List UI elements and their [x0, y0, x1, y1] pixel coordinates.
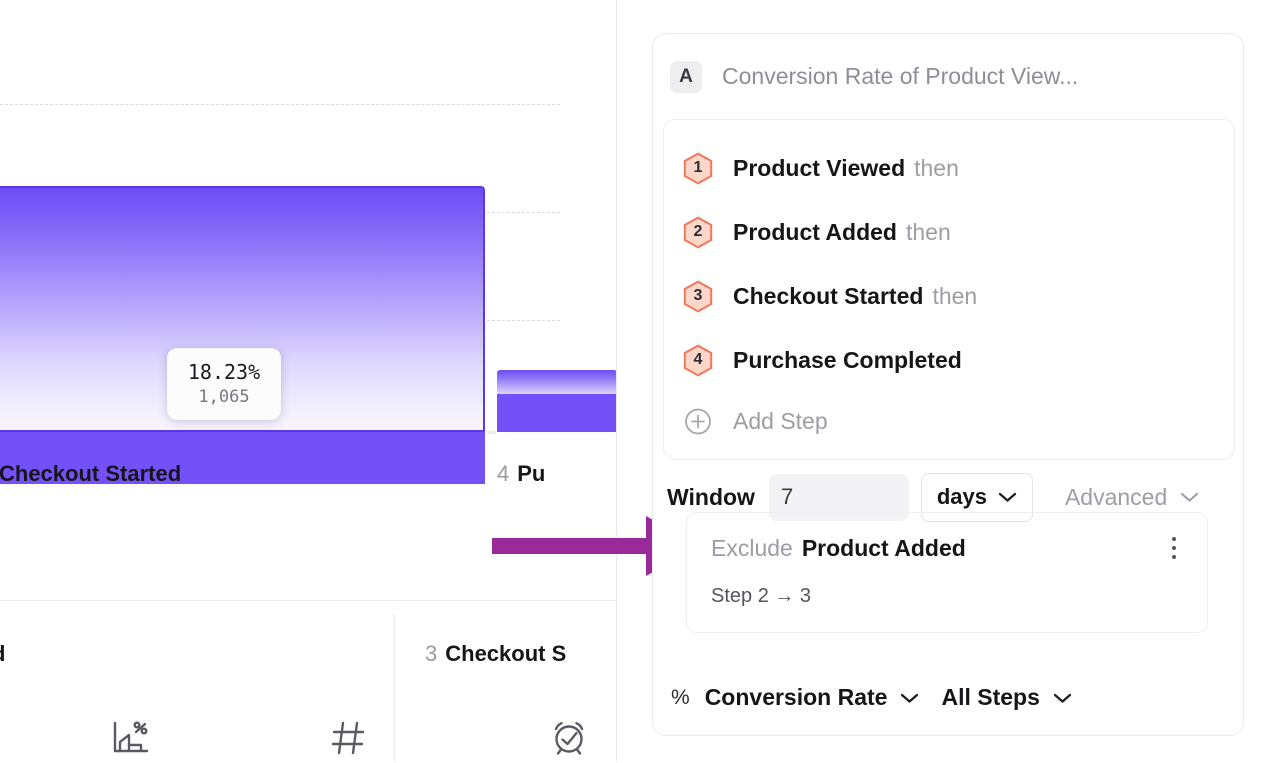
exclusion-step-range: Step 2 → 3: [711, 585, 1185, 608]
window-label: Window: [667, 484, 755, 511]
step-connector[interactable]: then: [914, 155, 959, 182]
chevron-down-icon: [1053, 692, 1072, 704]
tooltip-count-value: 1,065: [198, 385, 249, 409]
funnel-steps-card: 1 Product Viewed then 2 Product Added th…: [663, 119, 1235, 460]
bottom-card-divider: [394, 614, 395, 762]
chart-gridline: [0, 104, 560, 105]
add-step-button[interactable]: Add Step: [664, 392, 1234, 450]
bottom-card-index: 3: [425, 641, 437, 666]
step-number-hexagon-icon: 4: [683, 344, 713, 377]
funnel-builder-panel: A Conversion Rate of Product View... 1 P…: [652, 33, 1244, 736]
advanced-label: Advanced: [1065, 484, 1167, 511]
section-divider: [0, 600, 617, 601]
chevron-down-icon: [1180, 491, 1199, 503]
panel-title[interactable]: Conversion Rate of Product View...: [722, 63, 1078, 90]
scope-select[interactable]: All Steps: [941, 684, 1071, 711]
funnel-step-row-4[interactable]: 4 Purchase Completed: [664, 328, 1234, 392]
step-name: Purchase Completed: [733, 347, 962, 374]
funnel-step-row-3[interactable]: 3 Checkout Started then: [664, 264, 1234, 328]
step-connector[interactable]: then: [932, 283, 977, 310]
step-number-hexagon-icon: 3: [683, 280, 713, 313]
step-name: Checkout Started: [733, 283, 923, 310]
axis-label-text: Pu: [517, 461, 545, 486]
bottom-card-label-left: d: [0, 641, 5, 667]
window-unit-value: days: [937, 484, 987, 510]
panel-header: A Conversion Rate of Product View...: [653, 34, 1243, 119]
clock-check-icon[interactable]: [548, 718, 590, 763]
panel-footer: % Conversion Rate All Steps: [671, 684, 1072, 711]
funnel-bar-base-purchase-completed: [497, 394, 617, 432]
advanced-toggle[interactable]: Advanced: [1065, 484, 1199, 511]
exclusion-overflow-menu-icon[interactable]: [1163, 533, 1185, 563]
axis-label-purchase-completed: 4Pu: [497, 461, 545, 487]
step-number: 2: [694, 224, 703, 240]
step-number-hexagon-icon: 2: [683, 216, 713, 249]
funnel-bar-gap-tick: [487, 431, 496, 434]
axis-label-checkout-started: Checkout Started: [0, 461, 181, 487]
exclusion-step-card[interactable]: Exclude Product Added Step 2 → 3: [686, 512, 1208, 633]
percent-icon: %: [671, 686, 690, 710]
chart-tooltip: 18.23% 1,065: [167, 348, 281, 420]
funnel-chart-region: 18.23% 1,065 Checkout Started 4Pu d 3Che…: [0, 0, 617, 762]
scope-label: All Steps: [941, 684, 1039, 711]
add-step-label: Add Step: [733, 408, 828, 435]
step-number: 3: [694, 288, 703, 304]
chevron-down-icon: [998, 491, 1017, 503]
exclude-event-name: Product Added: [802, 535, 966, 562]
percent-chart-icon[interactable]: [108, 718, 152, 763]
axis-label-index: 4: [497, 461, 509, 486]
funnel-step-row-2[interactable]: 2 Product Added then: [664, 200, 1234, 264]
chevron-down-icon: [900, 692, 919, 704]
exclude-prefix-label: Exclude: [711, 535, 793, 562]
region-divider: [616, 0, 617, 762]
step-number: 4: [694, 352, 703, 368]
metric-select[interactable]: Conversion Rate: [705, 684, 920, 711]
bottom-card-text: Checkout S: [445, 641, 566, 666]
funnel-step-row-1[interactable]: 1 Product Viewed then: [664, 136, 1234, 200]
axis-label-text: Checkout Started: [0, 461, 181, 486]
tooltip-percent-value: 18.23%: [188, 359, 260, 385]
step-name: Product Added: [733, 219, 897, 246]
step-number: 1: [694, 160, 703, 176]
hash-icon[interactable]: [328, 718, 368, 763]
step-number-hexagon-icon: 1: [683, 152, 713, 185]
step-name: Product Viewed: [733, 155, 905, 182]
exclusion-card-header: Exclude Product Added: [711, 533, 1185, 563]
metric-label: Conversion Rate: [705, 684, 888, 711]
plus-circle-icon: [683, 405, 713, 438]
step-connector[interactable]: then: [906, 219, 951, 246]
series-badge[interactable]: A: [670, 61, 702, 93]
bottom-card-label-right: 3Checkout S: [425, 641, 566, 667]
